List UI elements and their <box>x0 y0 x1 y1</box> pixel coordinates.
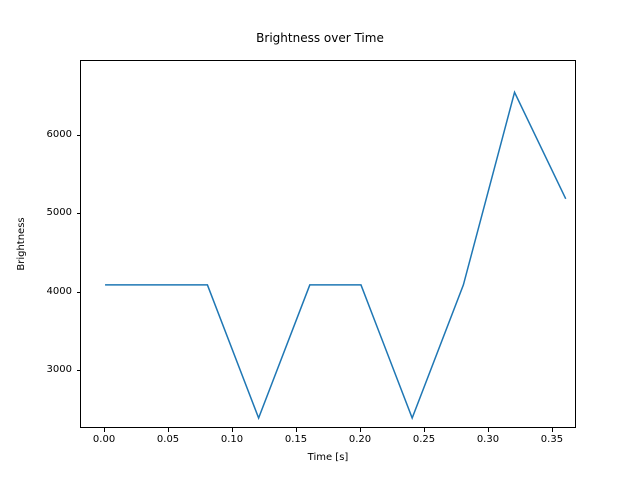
y-tick-mark <box>77 292 81 293</box>
y-tick-label: 5000 <box>47 207 72 219</box>
x-tick-label: 0.05 <box>157 434 179 446</box>
y-tick-label: 3000 <box>47 364 72 376</box>
x-tick-label: 0.35 <box>541 434 563 446</box>
x-tick-label: 0.20 <box>349 434 371 446</box>
x-tick-mark <box>296 428 297 432</box>
x-tick-mark <box>104 428 105 432</box>
chart-title: Brightness over Time <box>0 30 640 46</box>
x-tick-label: 0.30 <box>477 434 499 446</box>
x-tick-mark <box>488 428 489 432</box>
y-tick-mark <box>77 370 81 371</box>
y-axis-label: Brightness <box>16 217 28 270</box>
y-tick-mark <box>77 135 81 136</box>
x-tick-label: 0.15 <box>285 434 307 446</box>
y-tick-mark <box>77 213 81 214</box>
y-tick-label: 4000 <box>47 286 72 298</box>
x-axis-label: Time [s] <box>80 452 576 464</box>
x-tick-mark <box>168 428 169 432</box>
y-tick-label: 6000 <box>47 129 72 141</box>
x-tick-mark <box>232 428 233 432</box>
x-tick-label: 0.25 <box>413 434 435 446</box>
brightness-line <box>105 92 566 418</box>
x-tick-mark <box>360 428 361 432</box>
x-tick-mark <box>552 428 553 432</box>
plot-area <box>80 60 576 428</box>
chart-figure: Brightness over Time Time [s] Brightness… <box>0 0 640 480</box>
x-tick-label: 0.00 <box>93 434 115 446</box>
data-line-series <box>81 61 577 429</box>
x-tick-mark <box>424 428 425 432</box>
x-tick-label: 0.10 <box>221 434 243 446</box>
